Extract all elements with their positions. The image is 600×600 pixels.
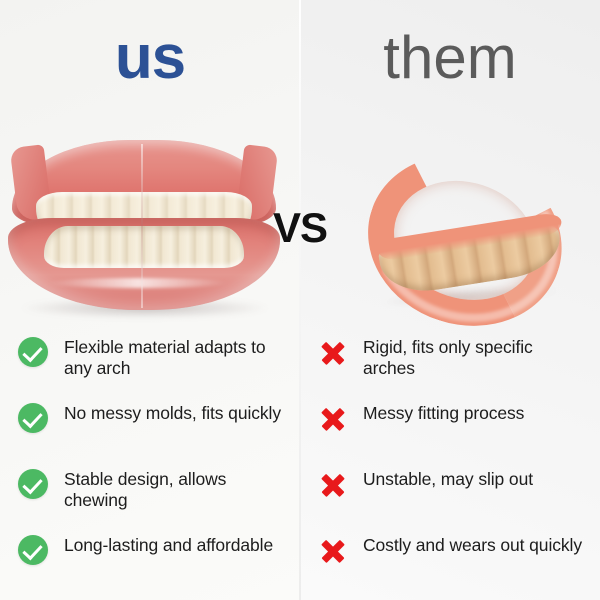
lower-teeth [44, 226, 244, 268]
cross-mark-icon [319, 403, 347, 437]
cons-list-item: Costly and wears out quickly [316, 534, 586, 600]
pros-list-item: No messy molds, fits quickly [18, 402, 288, 468]
check-circle-icon [18, 403, 52, 437]
pros-list: Flexible material adapts to any arch No … [18, 336, 288, 600]
comparison-infographic: us them VS Flexible material adapts to a… [0, 0, 600, 600]
cons-list-item: Messy fitting process [316, 402, 586, 468]
denture-midline [141, 144, 143, 308]
cons-item-label: Messy fitting process [363, 402, 524, 424]
single-arch-denture-image [355, 141, 586, 316]
cross-mark-icon [319, 337, 347, 371]
pros-list-item: Flexible material adapts to any arch [18, 336, 288, 402]
pros-list-item: Stable design, allows chewing [18, 468, 288, 534]
pros-item-label: No messy molds, fits quickly [64, 402, 281, 424]
pros-item-label: Flexible material adapts to any arch [64, 336, 288, 379]
cons-list: Rigid, fits only specific arches Messy f… [316, 336, 586, 600]
check-circle-icon [18, 337, 52, 371]
heading-us: us [0, 18, 300, 98]
vs-badge: VS [262, 202, 338, 254]
cross-mark-icon [319, 535, 347, 569]
gum-highlight [48, 278, 228, 288]
cons-item-label: Costly and wears out quickly [363, 534, 582, 556]
pros-list-item: Long-lasting and affordable [18, 534, 288, 600]
cons-item-label: Rigid, fits only specific arches [363, 336, 586, 379]
cons-item-label: Unstable, may slip out [363, 468, 533, 490]
cross-mark-icon [319, 469, 347, 503]
full-denture-set-image [8, 140, 280, 320]
check-circle-icon [18, 469, 52, 503]
pros-item-label: Long-lasting and affordable [64, 534, 273, 556]
cons-list-item: Unstable, may slip out [316, 468, 586, 534]
pros-item-label: Stable design, allows chewing [64, 468, 288, 511]
cons-list-item: Rigid, fits only specific arches [316, 336, 586, 402]
heading-them: them [300, 18, 600, 98]
check-circle-icon [18, 535, 52, 569]
